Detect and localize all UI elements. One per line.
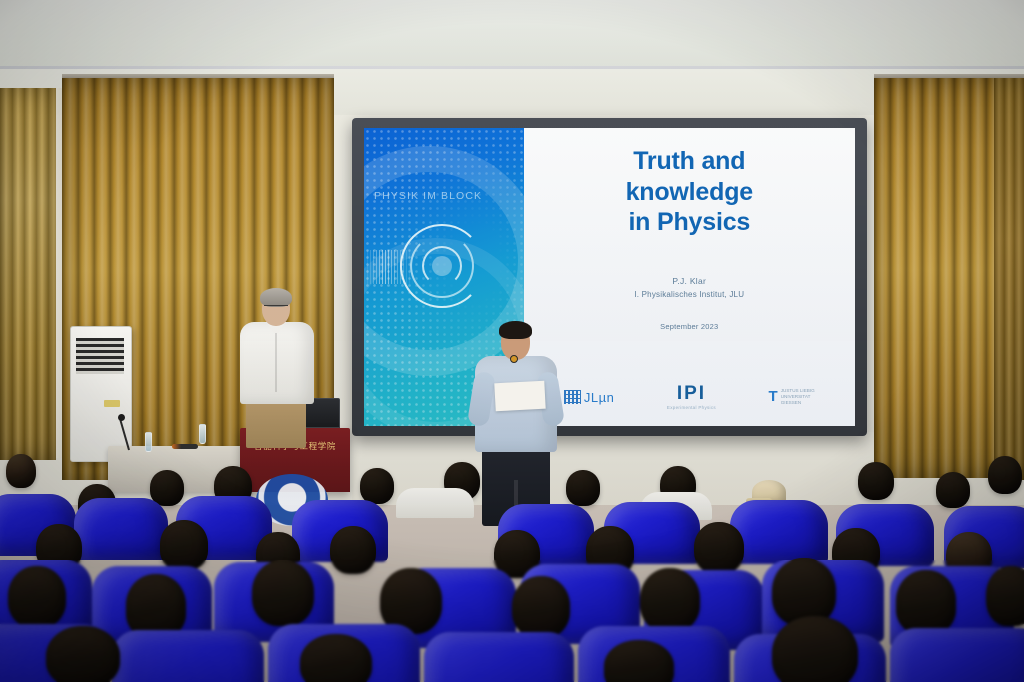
- auditorium-seat: [112, 630, 264, 682]
- ipi-logo: IPI Experimental Physics: [667, 384, 716, 410]
- audience-head: [512, 576, 570, 638]
- projection-screen-bezel: PHYSIK IM BLOCK Truth and knowledge in P…: [352, 118, 867, 436]
- presenter-notes-paper: [494, 381, 545, 412]
- audience-head: [126, 574, 186, 638]
- jlu-line-1: JUSTUS LIEBIG: [781, 388, 815, 394]
- curtain-right-edge: [994, 78, 1024, 480]
- slide-title-line-1: Truth and: [540, 146, 839, 177]
- jlu-giessen-logo: T JUSTUS LIEBIG UNIVERSITAT GIESSEN: [769, 388, 815, 407]
- jlun-pixel-grid-icon: [564, 390, 581, 404]
- ipi-logo-mark: IPI: [677, 384, 706, 403]
- slide-affiliation: I. Physikalisches Institut, JLU: [524, 290, 855, 299]
- auditorium-seat: [424, 632, 574, 682]
- audience-head: [640, 568, 700, 632]
- slide-author: P.J. Klar: [524, 276, 855, 286]
- audience-head: [46, 626, 120, 682]
- auditorium-seat: [890, 628, 1024, 682]
- jlu-line-3: GIESSEN: [781, 400, 815, 406]
- audience-head: [300, 634, 372, 682]
- auditorium-seat: [74, 498, 168, 560]
- audience-head: [986, 566, 1024, 626]
- jlu-t-mark: T: [769, 391, 778, 403]
- audience-head: [8, 566, 66, 628]
- audience-head: [330, 526, 376, 574]
- audience-head: [772, 616, 858, 682]
- gooseneck-microphone-head-icon: [118, 414, 125, 421]
- presenter-microphone-icon: [510, 355, 518, 363]
- audience-head: [252, 560, 314, 626]
- audience-head: [360, 468, 394, 504]
- slide-tech-ring-core: [432, 256, 452, 276]
- audience-head: [6, 454, 36, 488]
- guest-speaker-torso: [240, 322, 314, 404]
- jlun-logo: JLµn: [564, 390, 614, 405]
- slide-logo-row: JLµn IPI Experimental Physics T JUSTUS L…: [524, 384, 855, 410]
- audience-head: [936, 472, 970, 508]
- slide-title: Truth and knowledge in Physics: [524, 146, 855, 238]
- guest-speaker-legs: [246, 402, 306, 448]
- audience-head: [604, 640, 674, 682]
- audience-head: [694, 522, 744, 574]
- audience-area: [0, 448, 1024, 682]
- guest-speaker-shirt-placket: [275, 330, 277, 392]
- audience-shirt: [396, 488, 474, 518]
- auditorium-seat: [730, 500, 828, 564]
- lecture-hall-photo: PHYSIK IM BLOCK Truth and knowledge in P…: [0, 0, 1024, 682]
- slide-title-line-3: in Physics: [540, 207, 839, 238]
- projection-screen-surface: PHYSIK IM BLOCK Truth and knowledge in P…: [364, 128, 855, 426]
- jlu-logo-lines: JUSTUS LIEBIG UNIVERSITAT GIESSEN: [781, 388, 815, 407]
- audience-head: [896, 570, 956, 634]
- audience-head: [858, 462, 894, 500]
- air-conditioner-badge: [104, 400, 120, 407]
- guest-speaker-glasses-icon: [264, 305, 288, 310]
- audience-head: [566, 470, 600, 506]
- ceiling: [0, 0, 1024, 70]
- audience-head: [160, 520, 208, 570]
- water-bottle: [199, 424, 206, 444]
- audience-head: [988, 456, 1022, 494]
- curtain-left-window: [0, 88, 56, 460]
- ipi-logo-subtitle: Experimental Physics: [667, 405, 716, 410]
- slide-kicker-text: PHYSIK IM BLOCK: [374, 190, 524, 202]
- slide-date: September 2023: [524, 322, 855, 331]
- slide-content-panel: Truth and knowledge in Physics P.J. Klar…: [524, 128, 855, 426]
- jlun-logo-wordmark: JLµn: [584, 390, 614, 405]
- slide-title-line-2: knowledge: [540, 177, 839, 208]
- presenter-hair: [499, 321, 532, 339]
- air-conditioner-vent: [76, 338, 124, 374]
